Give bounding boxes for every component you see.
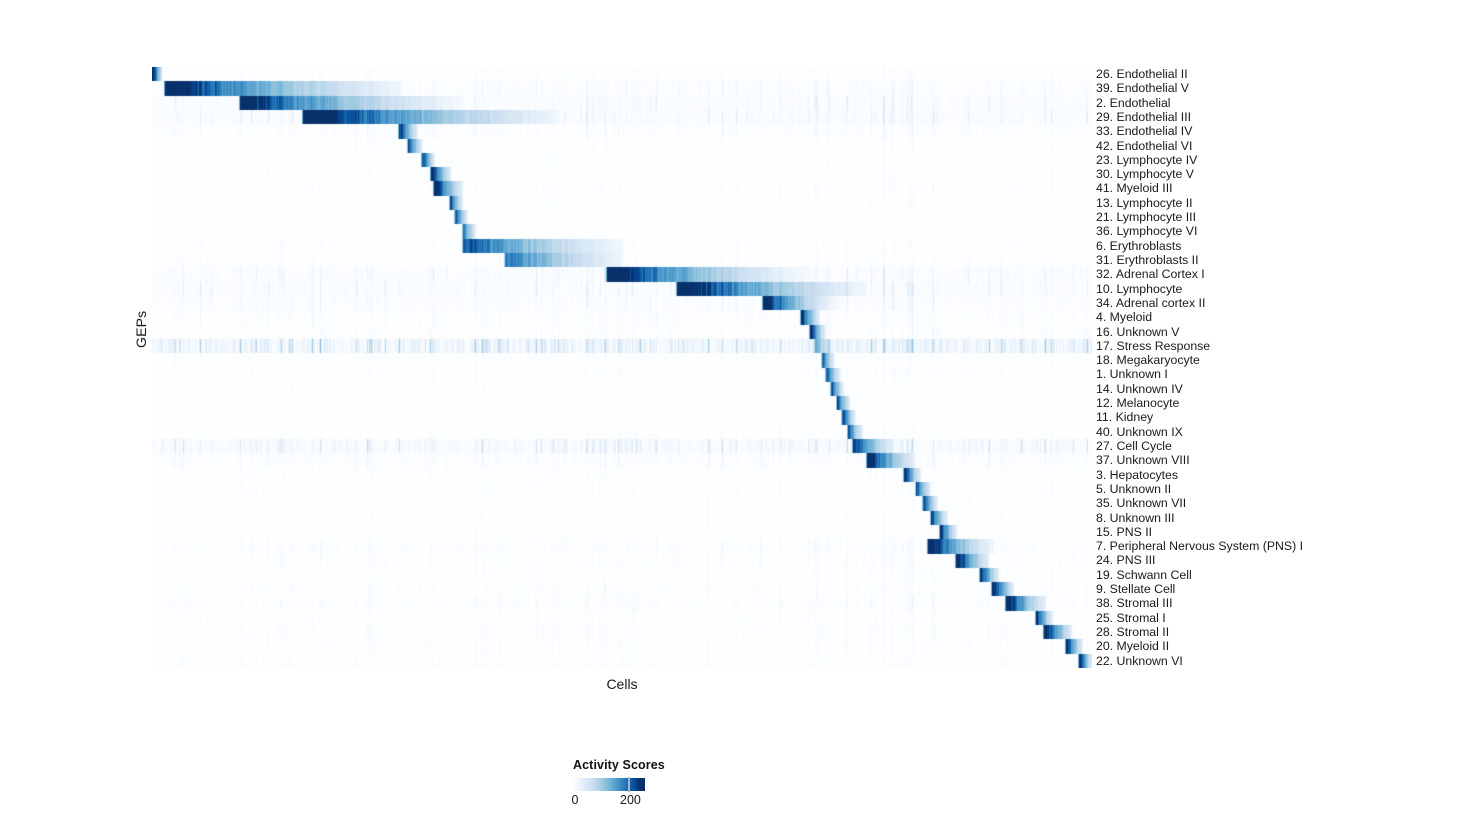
gep-row-label: 31. Erythroblasts II xyxy=(1096,254,1199,266)
gep-row-label: 39. Endothelial V xyxy=(1096,82,1189,94)
gep-row-label: 27. Cell Cycle xyxy=(1096,440,1172,452)
gep-row-label: 32. Adrenal Cortex I xyxy=(1096,268,1205,280)
gep-row-label: 36. Lymphocyte VI xyxy=(1096,225,1197,237)
gep-row-label: 20. Myeloid II xyxy=(1096,640,1169,652)
y-axis-title: GEPs xyxy=(133,311,149,348)
gep-row-label: 5. Unknown II xyxy=(1096,483,1171,495)
gep-row-label: 1. Unknown I xyxy=(1096,368,1168,380)
gep-row-label: 42. Endothelial VI xyxy=(1096,140,1192,152)
gep-row-label: 35. Unknown VII xyxy=(1096,497,1186,509)
gep-row-label: 40. Unknown IX xyxy=(1096,426,1183,438)
gep-row-label: 33. Endothelial IV xyxy=(1096,125,1192,137)
gep-row-label: 9. Stellate Cell xyxy=(1096,583,1175,595)
gep-row-label-list: 26. Endothelial II39. Endothelial V2. En… xyxy=(1096,67,1446,668)
gep-row-label: 41. Myeloid III xyxy=(1096,182,1173,194)
gep-row-label: 4. Myeloid xyxy=(1096,311,1152,323)
gep-row-label: 8. Unknown III xyxy=(1096,512,1175,524)
gep-row-label: 28. Stromal II xyxy=(1096,626,1169,638)
gep-row-label: 7. Peripheral Nervous System (PNS) I xyxy=(1096,540,1303,552)
x-axis-title: Cells xyxy=(152,676,1092,692)
gep-row-label: 6. Erythroblasts xyxy=(1096,240,1181,252)
legend-tick-label: 0 xyxy=(572,793,579,807)
gep-row-label: 29. Endothelial III xyxy=(1096,111,1191,123)
gep-row-label: 21. Lymphocyte III xyxy=(1096,211,1196,223)
heatmap-canvas xyxy=(152,67,1092,668)
gep-row-label: 11. Kidney xyxy=(1096,411,1153,423)
gep-row-label: 24. PNS III xyxy=(1096,554,1155,566)
gep-row-label: 12. Melanocyte xyxy=(1096,397,1179,409)
legend-tick-mark xyxy=(628,777,629,792)
gep-row-label: 38. Stromal III xyxy=(1096,597,1173,609)
gep-activity-heatmap-figure: GEPs Cells 26. Endothelial II39. Endothe… xyxy=(0,0,1457,815)
legend-tick-label: 200 xyxy=(620,793,641,807)
legend-colorbar xyxy=(573,778,645,791)
gep-row-label: 25. Stromal I xyxy=(1096,612,1166,624)
gep-row-label: 19. Schwann Cell xyxy=(1096,569,1192,581)
heatmap-plot-area xyxy=(152,67,1092,668)
legend-tick-labels: 0200 xyxy=(573,793,683,809)
gep-row-label: 2. Endothelial xyxy=(1096,97,1171,109)
activity-scores-legend: Activity Scores 0200 xyxy=(520,758,780,809)
gep-row-label: 30. Lymphocyte V xyxy=(1096,168,1194,180)
gep-row-label: 13. Lymphocyte II xyxy=(1096,197,1193,209)
gep-row-label: 17. Stress Response xyxy=(1096,340,1210,352)
gep-row-label: 14. Unknown IV xyxy=(1096,383,1183,395)
gep-row-label: 10. Lymphocyte xyxy=(1096,283,1182,295)
gep-row-label: 22. Unknown VI xyxy=(1096,655,1183,667)
gep-row-label: 26. Endothelial II xyxy=(1096,68,1188,80)
gep-row-label: 15. PNS II xyxy=(1096,526,1152,538)
legend-title: Activity Scores xyxy=(573,758,780,772)
legend-colorbar-wrap xyxy=(573,778,645,791)
gep-row-label: 37. Unknown VIII xyxy=(1096,454,1190,466)
gep-row-label: 16. Unknown V xyxy=(1096,326,1179,338)
gep-row-label: 34. Adrenal cortex II xyxy=(1096,297,1205,309)
gep-row-label: 18. Megakaryocyte xyxy=(1096,354,1200,366)
gep-row-label: 3. Hepatocytes xyxy=(1096,469,1178,481)
gep-row-label: 23. Lymphocyte IV xyxy=(1096,154,1197,166)
